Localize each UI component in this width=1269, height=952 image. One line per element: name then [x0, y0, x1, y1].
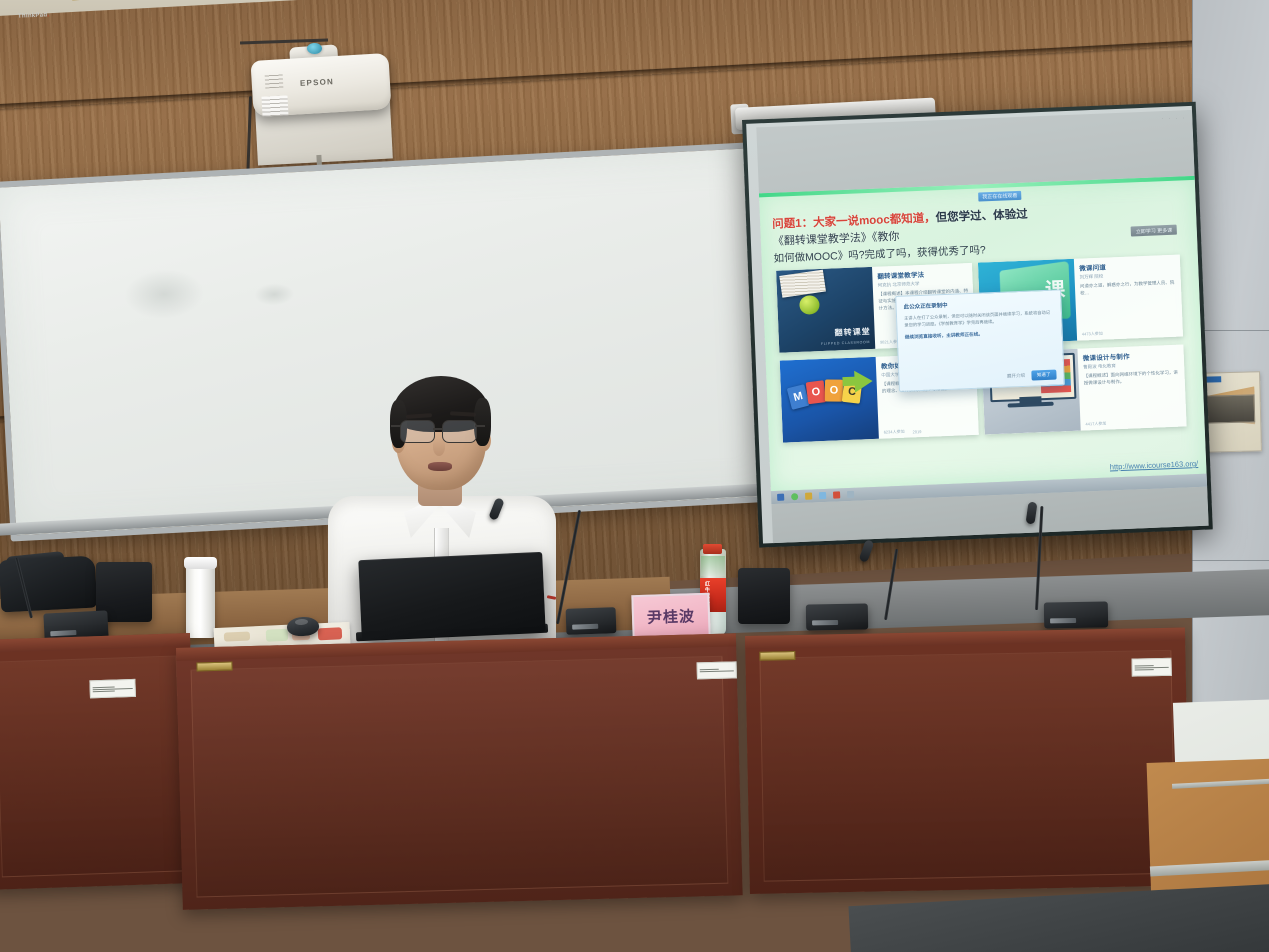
chip-recording-badge[interactable]: 我正在在线观看 — [978, 191, 1021, 202]
thumb-monitor-base — [1008, 402, 1054, 408]
projector-vents — [265, 74, 284, 89]
course-card-footer: 6234人参加 2019 — [884, 428, 922, 436]
paper-mark — [224, 631, 250, 641]
music-icon[interactable] — [805, 492, 812, 499]
thermos-cap — [184, 557, 217, 569]
asset-tag — [697, 661, 737, 679]
slide-url-link[interactable]: http://www.icourse163.org/ — [1110, 459, 1199, 472]
course-description: 问道亦之道，解惑亦之行，为教学管理人员、院校… — [1080, 280, 1176, 297]
course-instructor: 刘万辉 院校 — [1079, 271, 1175, 281]
paper-mark — [266, 629, 289, 642]
brass-plaque — [196, 662, 232, 672]
desk-panel — [176, 633, 743, 910]
lecture-room-photo: EPSON · · · · 我正在在线观看 立即学习 更多课 — [0, 0, 1269, 952]
mic-base-indicator — [572, 624, 598, 630]
mic-base[interactable] — [806, 603, 868, 630]
slide-dialog[interactable]: 此公众正在录制中 主讲人在打了公众录制，但您可以随时关闭该页面并继续学习，系统将… — [895, 289, 1065, 392]
glasses-bridge — [433, 428, 442, 430]
course-instructor: 何克抗 北京师范大学 — [878, 279, 968, 289]
laptop[interactable] — [358, 552, 545, 640]
asset-tag-line — [700, 670, 734, 672]
course-enrolled-count: 6234人参加 — [884, 429, 905, 436]
glasses-lens-left — [400, 420, 435, 443]
slide-heading-dark: 但您学过、体验过 — [935, 209, 1027, 225]
desk-edge — [745, 628, 1185, 649]
thumb-apple-icon — [799, 295, 820, 315]
panel-slot — [1207, 394, 1256, 423]
mooc-letter: O — [806, 380, 827, 404]
glasses-temple-left — [391, 425, 401, 427]
thumb-title: 翻转课堂 — [834, 326, 870, 338]
desk-panel — [0, 633, 198, 890]
mic-base[interactable] — [1044, 601, 1108, 628]
wood-seam — [0, 34, 1269, 111]
mic-base[interactable] — [566, 607, 617, 635]
start-icon[interactable] — [777, 494, 784, 501]
course-card-body: 微课设计与制作 曹殿波 电化教育 【课程概述】面向网络环境下的个性化学习，讲授微… — [1077, 344, 1186, 430]
course-description: 【课程概述】面向网络环境下的个性化学习，讲授微课设计与制作。 — [1083, 370, 1179, 387]
mooc-letter: O — [825, 379, 843, 401]
ppt-icon[interactable] — [833, 491, 840, 498]
name-placard: 尹桂波 — [631, 593, 710, 639]
bottle-top-graphic — [701, 556, 725, 576]
course-card-footer: 4417人参加 — [1085, 421, 1106, 428]
desk-inset-panel — [759, 650, 1175, 882]
projector-brand-label: EPSON — [300, 77, 334, 88]
dialog-buttons: 展开介绍 知道了 — [1007, 370, 1057, 382]
name-placard-text: 尹桂波 — [647, 605, 696, 627]
dialog-body: 主讲人在打了公众录制，但您可以随时关闭该页面并继续学习，系统将自动记录您的学习进… — [904, 309, 1054, 330]
desk-inset-panel — [191, 656, 729, 898]
floor-foreground — [848, 884, 1269, 952]
mic-base-indicator — [1050, 618, 1076, 623]
course-card-footer: 4473人参加 — [1082, 331, 1103, 338]
dialog-note: 继续浏览直接收听，主讲教师正在线。 — [905, 328, 1055, 340]
course-card-body: 微课问道 刘万辉 院校 问道亦之道，解惑亦之行，为教学管理人员、院校… 4473… — [1074, 255, 1183, 341]
black-bag — [0, 556, 97, 613]
projector-lens-icon — [307, 43, 322, 54]
paper-mark — [318, 627, 343, 640]
thumb-subtitle: FLIPPED CLASSROOM — [821, 340, 870, 346]
course-instructor: 曹殿波 电化教育 — [1083, 361, 1179, 371]
projection-surface: · · · · 我正在在线观看 立即学习 更多课 问题1：大家一说mooc都知道… — [746, 106, 1208, 544]
panel-label-tag — [1205, 376, 1221, 382]
desk-panel — [745, 628, 1190, 894]
asset-tag — [89, 679, 136, 699]
brass-plaque — [759, 651, 795, 661]
chair — [738, 568, 790, 624]
thumb-arrow-icon — [854, 370, 873, 393]
slide-heading-q: 问题1： — [772, 217, 813, 231]
mic-base-indicator — [812, 620, 838, 625]
white-thermos — [186, 561, 215, 638]
dialog-secondary-button[interactable]: 展开介绍 — [1007, 373, 1025, 380]
thumb-papers — [779, 270, 826, 298]
chrome-icon[interactable] — [791, 493, 798, 500]
course-enrolled-count: 4417人参加 — [1085, 421, 1106, 428]
folder-icon[interactable] — [819, 492, 826, 499]
screen-corner-mark: · · · · — [1161, 115, 1186, 122]
slide-heading-red: 大家一说mooc都知道， — [813, 212, 936, 229]
glasses-lens-right — [442, 420, 477, 443]
nose — [433, 438, 445, 456]
glasses-temple-right — [475, 425, 485, 427]
mic-base-indicator — [50, 630, 76, 636]
projection-screen: · · · · 我正在在线观看 立即学习 更多课 问题1：大家一说mooc都知道… — [742, 102, 1213, 548]
course-thumbnail-flipped: 翻转课堂 FLIPPED CLASSROOM — [776, 267, 875, 353]
electrical-panel-box — [1200, 371, 1262, 452]
chip-blue-label: 我正在在线观看 — [982, 192, 1017, 200]
projector-sticker — [261, 95, 288, 116]
whiteboard-smudge — [123, 267, 206, 321]
asset-tag-line — [1135, 669, 1154, 670]
mouth — [428, 462, 452, 471]
course-card-grid: 翻转课堂 FLIPPED CLASSROOM 翻转课堂教学法 何克抗 北京师范大… — [776, 255, 1187, 449]
course-thumbnail-mooc: M O O C — [780, 357, 879, 443]
whiteboard-smudge — [254, 282, 295, 306]
presentation-slide: 我正在在线观看 立即学习 更多课 问题1：大家一说mooc都知道，但您学过、体验… — [759, 176, 1207, 491]
asset-tag — [1132, 658, 1172, 677]
dialog-primary-button[interactable]: 知道了 — [1031, 370, 1057, 381]
course-enrolled-count: 4473人参加 — [1082, 331, 1103, 338]
doc-icon[interactable] — [847, 491, 854, 498]
course-term: 2019 — [912, 429, 921, 434]
bottle-cap — [703, 544, 722, 554]
asset-tag-line — [93, 690, 115, 692]
wall-seam — [1192, 560, 1269, 561]
